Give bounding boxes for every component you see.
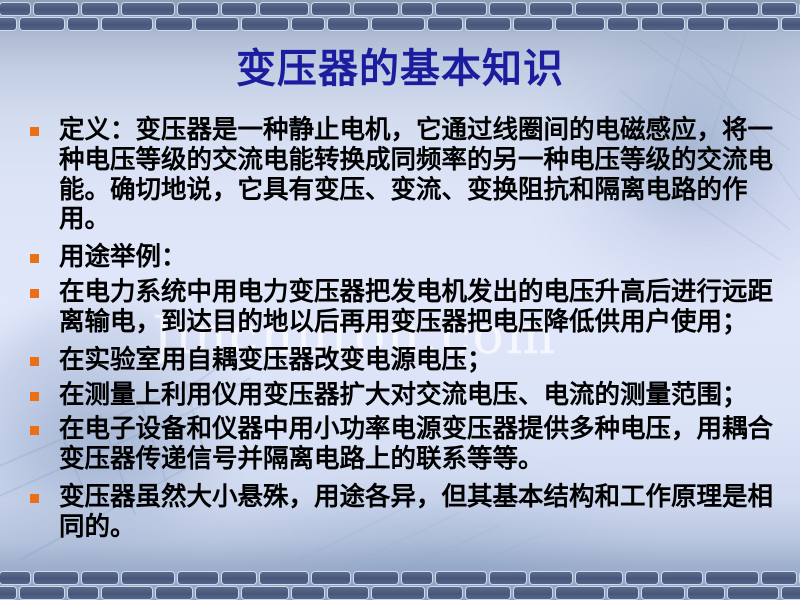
brick-tile: [312, 3, 350, 15]
brick-tile: [196, 18, 238, 30]
brick-tile: [292, 587, 324, 599]
bullet-item: 在电力系统中用电力变压器把发电机发出的电压升高后进行远距离输电，到达目的地以后再…: [30, 278, 782, 338]
brick-tile: [156, 587, 192, 599]
brick-tile: [490, 3, 526, 15]
brick-tile: [222, 572, 256, 584]
bullet-square-icon: [30, 357, 39, 366]
bullet-item: 在实验室用自耦变压器改变电源电压；: [30, 346, 782, 376]
brick-tile: [402, 572, 432, 584]
brick-tile: [122, 572, 174, 584]
presentation-slide: 变压器的基本知识 Jinchutou.com 定义：变压器是一种静止电机，它通过…: [0, 0, 800, 600]
brick-tile: [354, 3, 398, 15]
brick-tile: [34, 3, 78, 15]
brick-tile: [0, 3, 30, 15]
brick-tile: [402, 3, 432, 15]
bullet-text: 在电力系统中用电力变压器把发电机发出的电压升高后进行远距离输电，到达目的地以后再…: [59, 278, 782, 338]
brick-tile: [0, 572, 30, 584]
bullet-square-icon: [30, 426, 39, 435]
brick-tile: [82, 3, 118, 15]
bottom-brick-border: [0, 569, 800, 600]
brick-tile: [608, 587, 638, 599]
brick-tile: [662, 3, 702, 15]
brick-tile: [706, 572, 758, 584]
brick-tile: [782, 18, 800, 30]
brick-tile: [466, 18, 510, 30]
bullet-square-icon: [30, 127, 39, 136]
top-brick-border: [0, 0, 800, 31]
brick-tile: [514, 587, 552, 599]
brick-tile: [530, 3, 572, 15]
bullet-text: 在测量上利用仪用变压器扩大对交流电压、电流的测量范围；: [59, 381, 782, 411]
bullet-square-icon: [30, 494, 39, 503]
brick-tile: [576, 572, 622, 584]
brick-tile: [466, 587, 510, 599]
brick-tile: [328, 587, 368, 599]
brick-row-lower: [0, 16, 800, 31]
brick-tile: [728, 18, 778, 30]
brick-tile: [68, 18, 98, 30]
brick-tile: [122, 3, 174, 15]
brick-tile: [222, 3, 256, 15]
brick-tile: [242, 587, 288, 599]
bullet-text: 用途举例：: [59, 243, 782, 273]
bullet-text: 变压器虽然大小悬殊，用途各异，但其基本结构和工作原理是相同的。: [59, 483, 782, 543]
brick-tile: [428, 587, 462, 599]
brick-tile: [642, 18, 684, 30]
slide-body: 定义：变压器是一种静止电机，它通过线圈间的电磁感应，将一种电压等级的交流电能转换…: [30, 116, 782, 545]
brick-tile: [178, 3, 218, 15]
brick-tile: [20, 18, 64, 30]
brick-tile: [372, 587, 424, 599]
bullet-text: 在实验室用自耦变压器改变电源电压；: [59, 346, 782, 376]
brick-tile: [328, 18, 368, 30]
brick-tile: [178, 572, 218, 584]
bullet-text: 定义：变压器是一种静止电机，它通过线圈间的电磁感应，将一种电压等级的交流电能转换…: [59, 116, 782, 235]
brick-tile: [34, 572, 78, 584]
brick-tile: [662, 572, 702, 584]
brick-tile: [196, 587, 238, 599]
brick-tile: [626, 572, 658, 584]
brick-tile: [490, 572, 526, 584]
brick-tile: [626, 3, 658, 15]
slide-title: 变压器的基本知识: [0, 48, 800, 90]
bullet-text: 在电子设备和仪器中用小功率电源变压器提供多种电压，用耦合变压器传递信号并隔离电路…: [59, 415, 782, 475]
brick-tile: [260, 3, 308, 15]
brick-tile: [428, 18, 462, 30]
brick-tile: [82, 572, 118, 584]
brick-tile: [514, 18, 552, 30]
brick-tile: [156, 18, 192, 30]
brick-tile: [706, 3, 758, 15]
brick-tile: [102, 18, 152, 30]
brick-tile: [728, 587, 778, 599]
bullet-item: 变压器虽然大小悬殊，用途各异，但其基本结构和工作原理是相同的。: [30, 483, 782, 543]
brick-tile: [0, 18, 16, 30]
brick-tile: [556, 587, 604, 599]
brick-tile: [762, 3, 796, 15]
brick-tile: [242, 18, 288, 30]
brick-row-lower: [0, 585, 800, 600]
brick-tile: [688, 587, 724, 599]
bullet-item: 用途举例：: [30, 243, 782, 273]
brick-tile: [102, 587, 152, 599]
brick-tile: [576, 3, 622, 15]
brick-tile: [292, 18, 324, 30]
bullet-square-icon: [30, 392, 39, 401]
brick-tile: [20, 587, 64, 599]
brick-tile: [312, 572, 350, 584]
brick-tile: [556, 18, 604, 30]
brick-row-upper: [0, 570, 800, 585]
brick-tile: [688, 18, 724, 30]
brick-tile: [354, 572, 398, 584]
bullet-square-icon: [30, 289, 39, 298]
brick-tile: [762, 572, 796, 584]
bullet-item: 在测量上利用仪用变压器扩大对交流电压、电流的测量范围；: [30, 381, 782, 411]
brick-tile: [782, 587, 800, 599]
brick-tile: [642, 587, 684, 599]
brick-tile: [530, 572, 572, 584]
brick-tile: [0, 587, 16, 599]
brick-row-upper: [0, 1, 800, 16]
brick-tile: [436, 572, 486, 584]
brick-tile: [68, 587, 98, 599]
bullet-square-icon: [30, 254, 39, 263]
brick-tile: [372, 18, 424, 30]
brick-tile: [436, 3, 486, 15]
brick-tile: [260, 572, 308, 584]
bullet-item: 定义：变压器是一种静止电机，它通过线圈间的电磁感应，将一种电压等级的交流电能转换…: [30, 116, 782, 235]
bullet-item: 在电子设备和仪器中用小功率电源变压器提供多种电压，用耦合变压器传递信号并隔离电路…: [30, 415, 782, 475]
brick-tile: [608, 18, 638, 30]
